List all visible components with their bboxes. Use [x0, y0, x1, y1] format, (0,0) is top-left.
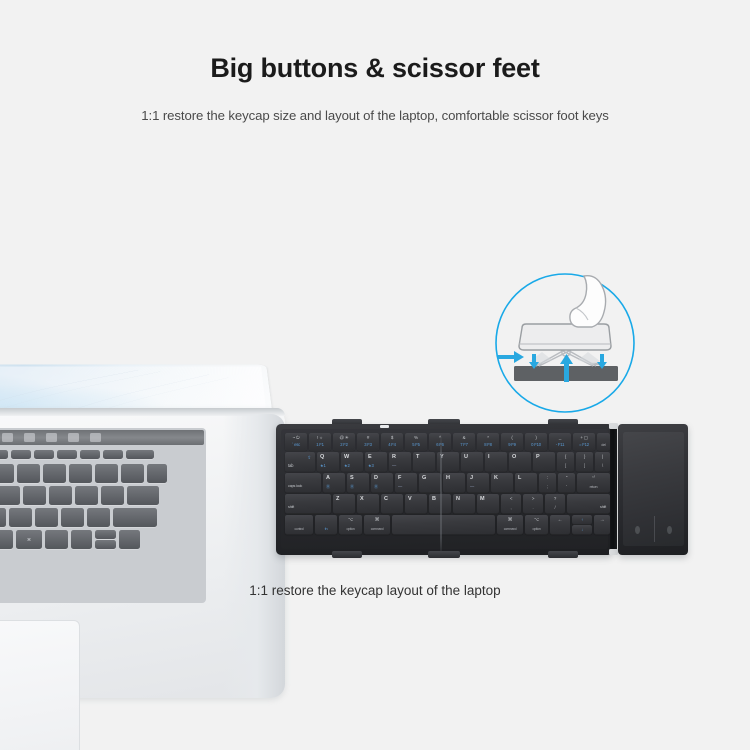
arrow-up-icon: ↑ — [572, 518, 592, 522]
laptop-key-arrow-left — [71, 530, 92, 549]
arrow-left-horizontal — [498, 351, 524, 363]
key-legend: Z — [336, 497, 339, 503]
laptop-key — [87, 508, 110, 527]
laptop-key-row-qwerty — [0, 464, 167, 483]
keycap — [519, 324, 611, 350]
key-legend-fn: - F11 — [549, 443, 571, 447]
touchpad-right-button-mark — [667, 526, 672, 534]
key-legend: option — [525, 528, 548, 531]
key-f[interactable]: F — — [395, 473, 417, 492]
key-comma[interactable]: < , — [501, 494, 521, 513]
key-c[interactable]: C — [381, 494, 403, 513]
laptop-key-row-numbers — [0, 450, 154, 459]
key-arrow-left[interactable]: ← — [550, 515, 570, 534]
key-legend-symbol: ⌥ — [525, 518, 548, 523]
key-legend-top: ? — [545, 497, 565, 501]
arrow-down-icon: ↓ — [572, 528, 592, 532]
key-legend: U — [464, 455, 468, 461]
laptop-key-arrow-down — [95, 540, 116, 549]
laptop-key — [0, 486, 20, 505]
laptop-key — [34, 450, 54, 459]
key-n[interactable]: N — [453, 494, 475, 513]
key-legend-fn: ★3 — [368, 464, 374, 468]
key-legend-symbol: ⌥ — [339, 518, 362, 523]
laptop-key-row-bottom-letters — [0, 508, 157, 527]
key-legend: Q — [320, 455, 324, 461]
key-legend-symbol: ⌘ — [497, 518, 523, 523]
key-legend: N — [456, 497, 460, 503]
key-legend-fn: Ⓡ — [326, 485, 330, 489]
key-s[interactable]: S Ⓡ — [347, 473, 369, 492]
keyboard-caption: 1:1 restore the keycap layout of the lap… — [0, 583, 750, 598]
laptop-key-row-modifiers: ⌘ ⌘ — [0, 530, 140, 549]
scissor-switch-diagram — [492, 270, 638, 416]
key-esc[interactable]: ~ ⏻ ` esc — [285, 433, 307, 450]
key-bracket-left[interactable]: { [ — [557, 452, 574, 471]
key-legend: M — [480, 497, 484, 503]
key-legend: , — [501, 506, 521, 510]
foldable-bluetooth-keyboard: ~ ⏻ ` esc ! ☼ 1 F1 @ ☀ 2 F2 # 3 F3 $ 4 — [276, 418, 688, 558]
key-command-right[interactable]: ⌘ command — [497, 515, 523, 534]
key-legend: H — [446, 476, 450, 482]
key-arrow-down[interactable]: ↓ — [572, 525, 592, 534]
key-0[interactable]: ) 0 F10 — [525, 433, 547, 450]
laptop-screen — [0, 366, 266, 408]
key-legend-top: * — [477, 436, 499, 440]
key-legend: shift — [600, 506, 606, 510]
key-option-left[interactable]: ⌥ option — [339, 515, 362, 534]
key-7[interactable]: & 7 F7 — [453, 433, 475, 450]
laptop-trackpad[interactable] — [0, 620, 80, 750]
laptop-key — [101, 486, 124, 505]
key-3[interactable]: # 3 F3 — [357, 433, 379, 450]
touch-bar-system-control[interactable] — [2, 433, 13, 442]
arrow-right-icon: → — [594, 518, 610, 523]
key-legend-fn: 9 F9 — [501, 443, 523, 447]
key-legend: D — [374, 476, 378, 482]
touchpad-panel[interactable] — [618, 424, 688, 555]
key-t[interactable]: T — [413, 452, 435, 471]
laptop-key — [69, 464, 92, 483]
key-legend: X — [360, 497, 363, 503]
key-e[interactable]: E ★3 — [365, 452, 387, 471]
laptop-key — [103, 450, 123, 459]
key-1[interactable]: ! ☼ 1 F1 — [309, 433, 331, 450]
key-arrow-right[interactable]: → — [594, 515, 610, 534]
laptop-key — [9, 508, 32, 527]
hinge-cap-bottom — [609, 549, 618, 555]
touchpad-button-divider — [654, 516, 655, 542]
key-k[interactable]: K — [491, 473, 513, 492]
key-legend-top: ( — [501, 436, 523, 440]
touch-bar-system-control[interactable] — [90, 433, 101, 442]
key-legend: G — [422, 476, 426, 482]
key-option-right[interactable]: ⌥ option — [525, 515, 548, 534]
key-u[interactable]: U — [461, 452, 483, 471]
laptop-illustration: ⌘ ⌘ — [0, 300, 290, 700]
key-legend-fn: 2 F2 — [333, 443, 355, 447]
laptop-key-arrow-up — [95, 530, 116, 539]
key-legend: W — [344, 455, 349, 461]
hinge-cap-top — [609, 423, 618, 429]
wallpaper-waves — [0, 366, 266, 411]
key-bracket-right[interactable]: } ] — [576, 452, 593, 471]
key-legend-fn: Ⓡ — [374, 485, 378, 489]
page-subtitle: 1:1 restore the keycap size and layout o… — [0, 108, 750, 123]
key-legend-top: ! ☼ — [309, 436, 331, 440]
key-minus[interactable]: _ - F11 — [549, 433, 571, 450]
key-quote[interactable]: " ' — [558, 473, 575, 492]
key-legend: ⏎ — [577, 476, 610, 480]
laptop-key — [95, 464, 118, 483]
laptop-key-space — [0, 530, 13, 549]
page-title: Big buttons & scissor feet — [0, 52, 750, 84]
status-led-indicator — [380, 425, 389, 428]
key-legend: shift — [288, 506, 294, 510]
hinge-tab-bottom-right — [548, 551, 578, 558]
key-2[interactable]: @ ☀ 2 F2 — [333, 433, 355, 450]
touch-bar-system-control[interactable] — [24, 433, 35, 442]
key-legend: T — [416, 455, 419, 461]
key-legend: B — [432, 497, 436, 503]
key-fn[interactable]: fn — [315, 515, 337, 534]
key-v[interactable]: V — [405, 494, 427, 513]
key-legend: I — [488, 455, 489, 461]
key-legend: command — [497, 528, 523, 531]
key-period[interactable]: > . — [523, 494, 543, 513]
touchpad-surface[interactable] — [623, 432, 684, 546]
key-equal[interactable]: + ▢ = F12 — [573, 433, 595, 450]
laptop-key — [49, 486, 72, 505]
key-legend-symbol: ⌘ — [364, 518, 390, 523]
key-legend-fn: ★1 — [320, 464, 326, 468]
key-legend: C — [384, 497, 388, 503]
key-legend: J — [470, 476, 473, 482]
key-legend-fn: 4 F4 — [381, 443, 403, 447]
touch-bar[interactable] — [0, 430, 204, 445]
touchpad-left-button-mark — [635, 526, 640, 534]
key-legend-fn: 5 F5 — [405, 443, 427, 447]
key-i[interactable]: I — [485, 452, 507, 471]
hinge-tab-bottom-left — [332, 551, 362, 558]
key-legend-top: _ — [549, 436, 571, 440]
key-legend-fn: 7 F7 — [453, 443, 475, 447]
key-legend: ; — [539, 485, 556, 489]
key-legend-top: # — [357, 436, 379, 440]
key-legend: L — [518, 476, 521, 482]
key-legend-fn: — — [470, 485, 474, 489]
laptop-key — [43, 464, 66, 483]
key-legend: V — [408, 497, 411, 503]
key-legend-fn: 0 F10 — [525, 443, 547, 447]
key-legend: caps lock — [288, 485, 302, 489]
key-legend: / — [545, 506, 565, 510]
key-legend-top: ~ ⏻ — [285, 436, 307, 440]
key-legend-fn: Ⓡ — [350, 485, 354, 489]
key-9[interactable]: ( 9 F9 — [501, 433, 523, 450]
key-g[interactable]: G — [419, 473, 441, 492]
key-legend: fn — [315, 528, 337, 532]
key-legend: \ — [595, 464, 610, 468]
key-4[interactable]: $ 4 F4 — [381, 433, 403, 450]
key-legend: tab — [288, 464, 293, 468]
key-d[interactable]: D Ⓡ — [371, 473, 393, 492]
laptop-key — [61, 508, 84, 527]
arrow-left-icon: ← — [550, 518, 570, 523]
key-legend-fn: — — [392, 464, 396, 468]
key-legend-fn: 8 F8 — [477, 443, 499, 447]
key-legend-top: } — [576, 455, 593, 459]
key-a[interactable]: A Ⓡ — [323, 473, 345, 492]
laptop-key — [121, 464, 144, 483]
key-legend-top: & — [453, 436, 475, 440]
key-legend-top: { — [557, 455, 574, 459]
laptop-key — [0, 450, 8, 459]
key-q[interactable]: Q ★1 — [317, 452, 339, 471]
key-p[interactable]: P — [533, 452, 555, 471]
laptop-key-arrow-updown — [95, 530, 116, 549]
key-legend-fn: 3 F3 — [357, 443, 379, 447]
key-return[interactable]: ⏎ return — [577, 473, 610, 492]
key-legend-top: | — [595, 455, 610, 459]
key-legend-fn: 1 F1 — [309, 443, 331, 447]
key-legend-top: @ ☀ — [333, 436, 355, 440]
keyboard-touchpad-hinge — [610, 426, 617, 553]
key-legend-top: > — [523, 497, 543, 501]
laptop-key — [75, 486, 98, 505]
key-legend: F — [398, 476, 401, 482]
laptop-key-delete — [126, 450, 154, 459]
key-legend-top: % — [405, 436, 427, 440]
key-m[interactable]: M — [477, 494, 499, 513]
key-legend-fn: ` esc — [285, 443, 307, 447]
laptop-key-option — [45, 530, 68, 549]
header: Big buttons & scissor feet 1:1 restore t… — [0, 0, 750, 123]
key-legend: S — [350, 476, 353, 482]
key-caps-lock[interactable]: caps lock — [285, 473, 321, 492]
key-l[interactable]: L — [515, 473, 537, 492]
laptop-key — [17, 464, 40, 483]
key-legend: [ — [557, 464, 574, 468]
key-8[interactable]: * 8 F8 — [477, 433, 499, 450]
key-shift-left[interactable]: shift — [285, 494, 331, 513]
key-legend: ' — [558, 485, 575, 489]
key-legend: return — [577, 486, 610, 489]
keyboard-surface: ~ ⏻ ` esc ! ☼ 1 F1 @ ☀ 2 F2 # 3 F3 $ 4 — [281, 429, 608, 549]
key-backslash[interactable]: | \ — [595, 452, 610, 471]
laptop-base: ⌘ ⌘ — [0, 408, 285, 698]
key-semicolon[interactable]: : ; — [539, 473, 556, 492]
key-5[interactable]: % 5 F5 — [405, 433, 427, 450]
key-slash[interactable]: ? / — [545, 494, 565, 513]
key-legend: del — [597, 444, 610, 448]
key-legend-fn: = F12 — [573, 443, 595, 447]
key-legend-top: + ▢ — [573, 436, 595, 440]
laptop-key — [147, 464, 167, 483]
key-o[interactable]: O — [509, 452, 531, 471]
key-legend-top: $ — [381, 436, 403, 440]
key-space[interactable] — [392, 515, 495, 534]
key-delete[interactable]: del — [597, 433, 610, 450]
key-legend-fn: — — [398, 485, 402, 489]
key-legend: O — [512, 455, 516, 461]
key-command-left[interactable]: ⌘ command — [364, 515, 390, 534]
key-arrow-up[interactable]: ↑ — [572, 515, 592, 524]
key-x[interactable]: X — [357, 494, 379, 513]
laptop-key-return — [127, 486, 159, 505]
laptop-key — [0, 508, 6, 527]
key-legend: . — [523, 506, 543, 510]
laptop-lid — [0, 365, 272, 410]
hinge-tab-bottom-mid — [428, 551, 460, 558]
key-legend: control — [285, 528, 313, 532]
laptop-key-shift — [113, 508, 157, 527]
key-h[interactable]: H — [443, 473, 465, 492]
key-legend-top: ) — [525, 436, 547, 440]
key-shift-right[interactable]: shift — [567, 494, 610, 513]
touch-bar-system-control[interactable] — [46, 433, 57, 442]
key-legend-fn: ⇪ — [307, 456, 311, 461]
key-legend: command — [364, 528, 390, 531]
key-r[interactable]: R — — [389, 452, 411, 471]
key-w[interactable]: W ★2 — [341, 452, 363, 471]
key-legend: option — [339, 528, 362, 531]
laptop-key — [11, 450, 31, 459]
key-control[interactable]: control — [285, 515, 313, 534]
laptop-key — [35, 508, 58, 527]
laptop-key — [0, 464, 14, 483]
product-marketing-page: Big buttons & scissor feet 1:1 restore t… — [0, 0, 750, 750]
keyboard-body: ~ ⏻ ` esc ! ☼ 1 F1 @ ☀ 2 F2 # 3 F3 $ 4 — [276, 424, 613, 555]
laptop-key — [80, 450, 100, 459]
laptop-key-row-home — [0, 486, 159, 505]
key-legend: ] — [576, 464, 593, 468]
key-tab[interactable]: tab ⇪ — [285, 452, 315, 471]
key-legend: P — [536, 455, 539, 461]
key-legend: R — [392, 455, 396, 461]
laptop-key-arrow-right — [119, 530, 140, 549]
key-legend: K — [494, 476, 498, 482]
key-z[interactable]: Z — [333, 494, 355, 513]
keyboard-fold-seam — [440, 434, 442, 557]
key-legend: A — [326, 476, 330, 482]
laptop-key — [23, 486, 46, 505]
laptop-key-command: ⌘ — [16, 530, 42, 549]
laptop-key — [57, 450, 77, 459]
key-j[interactable]: J — — [467, 473, 489, 492]
touch-bar-system-control[interactable] — [68, 433, 79, 442]
key-legend-top: " — [558, 476, 575, 480]
key-legend-fn: ★2 — [344, 464, 350, 468]
key-legend: E — [368, 455, 371, 461]
key-legend-top: < — [501, 497, 521, 501]
key-legend-top: : — [539, 476, 556, 480]
